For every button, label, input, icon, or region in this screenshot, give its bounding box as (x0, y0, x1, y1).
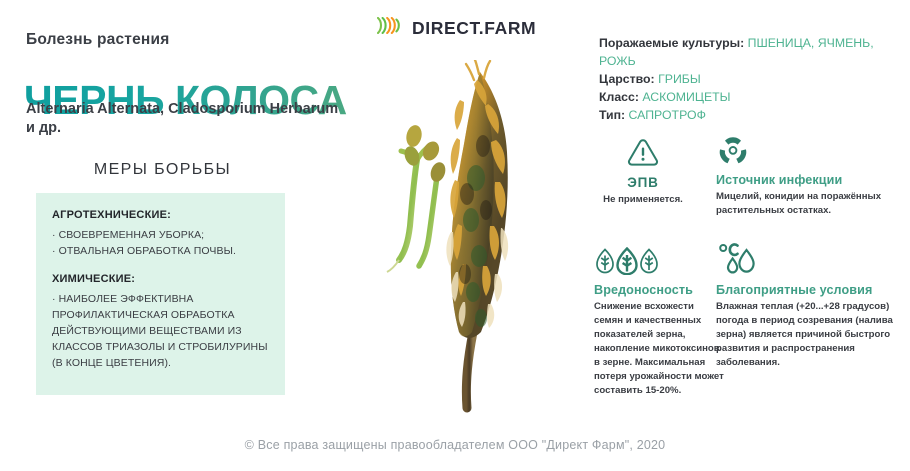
info-block-body: Не применяется. (583, 193, 703, 207)
wheat-stalk (466, 332, 473, 408)
info-block-title: Благоприятные условия (716, 283, 896, 297)
info-block-infection-source: Источник инфекции Мицелий, конидии на по… (716, 135, 896, 218)
direct-farm-mark-icon (377, 17, 401, 39)
info-block-favorable-conditions: Благоприятные условия Влажная теплая (+2… (716, 243, 896, 370)
fact-label: Класс: (599, 90, 639, 104)
warning-triangle-icon (583, 137, 703, 172)
measures-chem-list: · НАИБОЛЕЕ ЭФФЕКТИВНА ПРОФИЛАКТИЧЕСКАЯ О… (52, 292, 269, 372)
three-leaves-icon (594, 247, 724, 280)
info-block-body: Мицелий, конидии на поражённых раститель… (716, 190, 896, 218)
measures-agro-list: · СВОЕВРЕМЕННАЯ УБОРКА; · ОТВАЛЬНАЯ ОБРА… (52, 228, 269, 260)
fact-value: ГРИБЫ (658, 72, 701, 86)
radiation-icon (716, 135, 896, 170)
brand-logo-text: DIRECT.FARM (412, 18, 536, 39)
temperature-humidity-icon (716, 243, 896, 280)
info-block-epv: ЭПВ Не применяется. (583, 137, 703, 207)
measures-chem-heading: ХИМИЧЕСКИЕ: (52, 273, 269, 285)
info-block-title: ЭПВ (583, 175, 703, 190)
fact-label: Тип: (599, 108, 625, 122)
fact-value: АСКОМИЦЕТЫ (642, 90, 730, 104)
fact-row-kingdom: Царство: ГРИБЫ (599, 71, 891, 89)
control-measures-box: АГРОТЕХНИЧЕСКИЕ: · СВОЕВРЕМЕННАЯ УБОРКА;… (36, 193, 285, 395)
fact-label: Царство: (599, 72, 655, 86)
info-block-body: Влажная теплая (+20...+28 градусов) пого… (716, 300, 896, 370)
fact-row-class: Класс: АСКОМИЦЕТЫ (599, 89, 891, 107)
measures-divider (52, 260, 269, 273)
copyright-footer: © Все права защищены правообладателем ОО… (0, 438, 910, 452)
fact-row-crops: Поражаемые культуры: ПШЕНИЦА, ЯЧМЕНЬ, РО… (599, 35, 891, 71)
info-block-title: Вредоносность (594, 283, 724, 297)
infographic-poster: Болезнь растения ЧЕРНЬ КОЛОСА Alternaria… (0, 0, 910, 471)
fact-value: САПРОТРОФ (629, 108, 706, 122)
wheat-ear-head (446, 60, 508, 338)
fact-list: Поражаемые культуры: ПШЕНИЦА, ЯЧМЕНЬ, РО… (599, 35, 891, 125)
info-block-body: Снижение всхожести семян и качественных … (594, 300, 724, 398)
fact-label: Поражаемые культуры: (599, 36, 744, 50)
measures-agro-heading: АГРОТЕХНИЧЕСКИЕ: (52, 209, 269, 221)
kicker-label: Болезнь растения (26, 31, 169, 49)
info-block-harmfulness: Вредоносность Снижение всхожести семян и… (594, 247, 724, 398)
fact-row-type: Тип: САПРОТРОФ (599, 107, 891, 125)
brand-logo[interactable]: DIRECT.FARM (377, 17, 536, 39)
latin-name-label: Alternaria Alternata, Cladosporium Herba… (26, 100, 346, 138)
seedling-sprig (387, 124, 448, 272)
info-block-title: Источник инфекции (716, 173, 896, 187)
measures-heading: МЕРЫ БОРЬБЫ (0, 161, 325, 179)
diseased-wheat-ear-photo (355, 60, 555, 425)
